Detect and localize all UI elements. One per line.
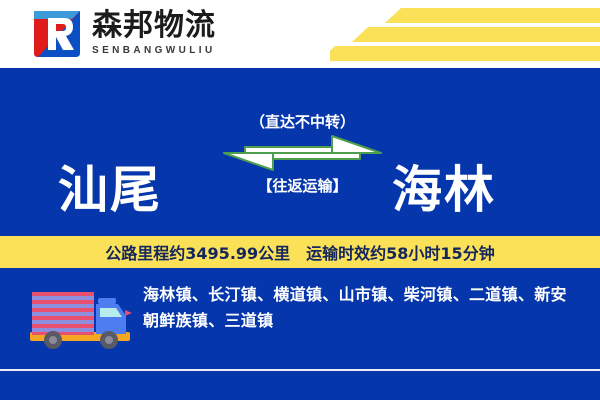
distance-duration-text: 公路里程约3495.99公里 运输时效约58小时15分钟 [105,240,494,264]
route-middle: （直达不中转） 【往返运输】 [215,112,390,196]
bidirectional-arrow-icon [215,134,390,174]
stripe-3 [330,46,600,61]
brand-name-block: 森邦物流 SENBANGWULIU [92,9,216,57]
delivery-truck-icon [26,282,134,354]
stripe-2 [352,27,600,42]
banner-header: 森邦物流 SENBANGWULIU [0,0,600,68]
banner-footer [0,371,600,400]
stops-list: 海林镇、长汀镇、横道镇、山市镇、柴河镇、二道镇、新安朝鲜族镇、三道镇 [143,282,581,334]
destination-city: 海林 [392,165,496,215]
header-stripes-decoration [330,0,600,68]
roundtrip-note: 【往返运输】 [215,176,390,196]
brand-logo[interactable]: 森邦物流 SENBANGWULIU [28,9,216,59]
company-name-cn: 森邦物流 [92,9,216,43]
logistics-route-banner: 森邦物流 SENBANGWULIU 汕尾 （直达不中转） 【往返运输】 海林 [0,0,600,400]
direct-service-note: （直达不中转） [215,112,390,132]
stops-section: 海林镇、长汀镇、横道镇、山市镇、柴河镇、二道镇、新安朝鲜族镇、三道镇 [0,268,600,368]
company-name-en: SENBANGWULIU [92,44,216,57]
stripe-1 [385,8,600,23]
route-section: 汕尾 （直达不中转） 【往返运输】 海林 [0,68,600,236]
distance-duration-bar: 公路里程约3495.99公里 运输时效约58小时15分钟 [0,236,600,268]
origin-city: 汕尾 [58,165,162,215]
senbang-r-logo-icon [28,9,82,59]
